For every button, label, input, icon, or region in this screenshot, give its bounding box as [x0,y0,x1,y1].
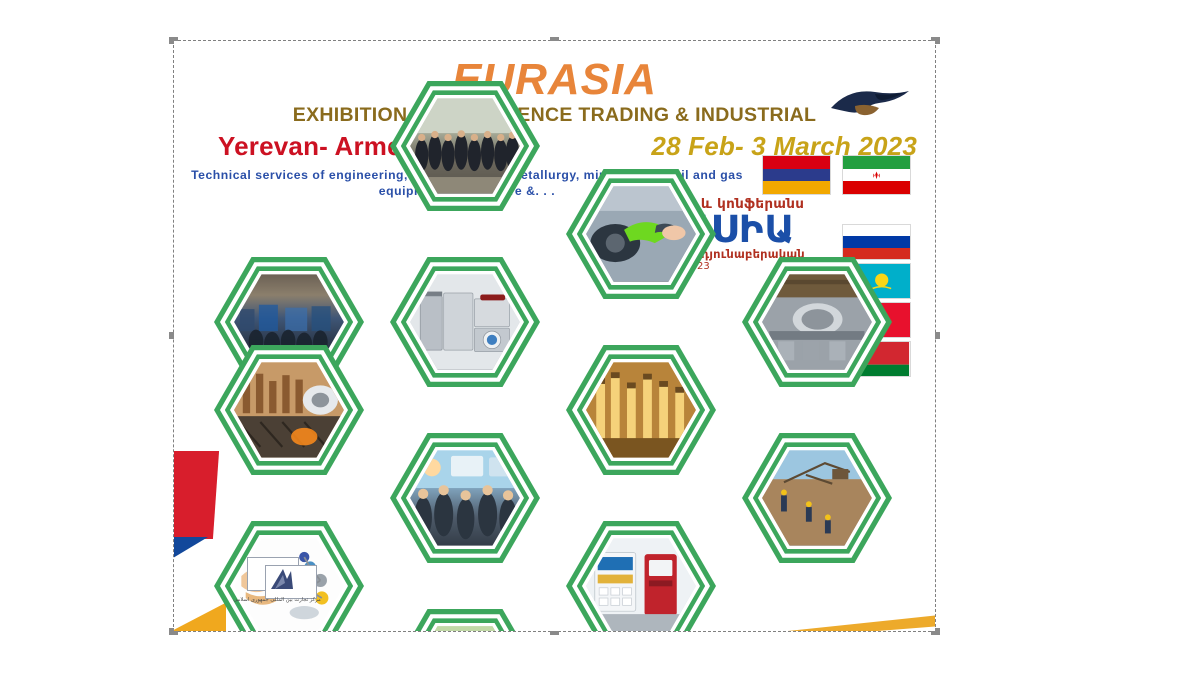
hex-turbine-machinery [742,257,892,387]
hex-group-photo [390,81,540,211]
screenshot-canvas: EURASIA EXHIBITION & CONFERENCE TRADING … [0,0,1198,673]
eurasia-poster: EURASIA EXHIBITION & CONFERENCE TRADING … [174,41,935,631]
selected-image-frame[interactable]: EURASIA EXHIBITION & CONFERENCE TRADING … [173,40,936,632]
logo-bird-icon [265,563,299,597]
logo-caption: مرکز تجارت بین المللی جمهوری اسلامی [229,597,325,603]
hex-refinery-night [566,345,716,475]
hex-fuel-nozzle [566,169,716,299]
hex-steel-plant [214,345,364,475]
hex-visitors-booth-main [390,433,540,563]
hex-fuel-station [566,521,716,631]
hex-tractor-field [390,609,540,631]
hex-home-appliances [390,257,540,387]
hex-mining-site [742,433,892,563]
organizer-logo: مرکز تجارت بین المللی جمهوری اسلامی [229,553,325,611]
hexagon-photo-grid [174,41,935,631]
